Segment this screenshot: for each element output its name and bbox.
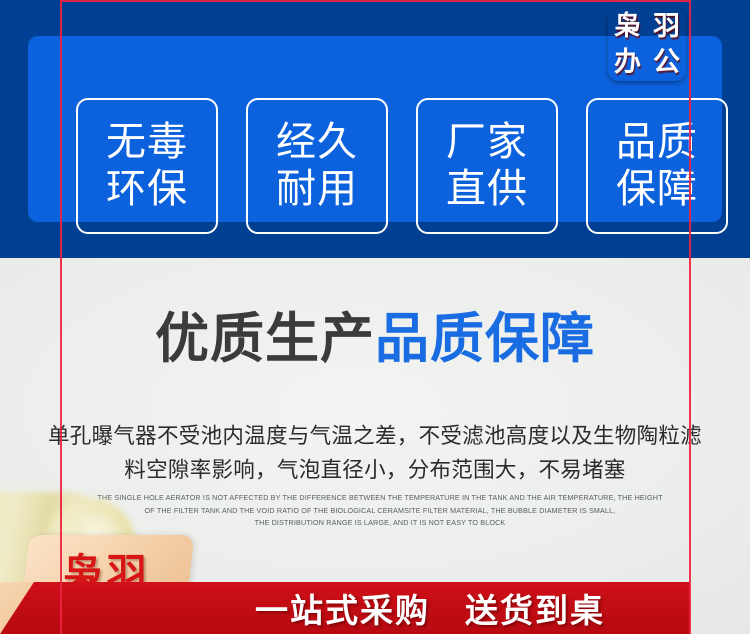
description-chinese: 单孔曝气器不受池内温度与气温之差，不受滤池高度以及生物陶粒滤 料空隙率影响，气泡… [5, 420, 745, 488]
crop-guide-right [689, 0, 691, 634]
feature-card-line2: 保障 [616, 167, 698, 212]
seal-char-2: 羽 [653, 13, 680, 40]
headline-part-blue: 品质保障 [375, 309, 595, 369]
feature-card-list: 无毒 环保 经久 耐用 厂家 直供 品质 保障 [76, 98, 730, 234]
feature-card-line1: 厂家 [446, 120, 528, 165]
feature-card-factory-direct[interactable]: 厂家 直供 [416, 98, 558, 234]
footer-slogan-text: 一站式采购 送货到桌 [170, 582, 690, 634]
crop-guide-left [60, 0, 62, 634]
feature-card-line2: 环保 [106, 167, 188, 212]
brand-seal-badge: 枭 羽 办 公 [608, 8, 686, 81]
description-en-line3: THE DISTRIBUTION RANGE IS LARGE, AND IT … [85, 517, 675, 530]
feature-card-line2: 耐用 [276, 167, 358, 212]
feature-card-line2: 直供 [446, 167, 528, 212]
feature-card-line1: 经久 [276, 120, 358, 165]
section-headline: 优质生产品质保障 [0, 312, 750, 366]
feature-card-line1: 无毒 [106, 120, 188, 165]
poster-page: 无毒 环保 经久 耐用 厂家 直供 品质 保障 枭 羽 [0, 0, 750, 634]
feature-card-nontoxic[interactable]: 无毒 环保 [76, 98, 218, 234]
feature-banner: 无毒 环保 经久 耐用 厂家 直供 品质 保障 枭 羽 [0, 0, 750, 258]
seal-char-4: 公 [653, 49, 680, 76]
seal-char-3: 办 [614, 49, 641, 76]
description-english: THE SINGLE HOLE AERATOR IS NOT AFFECTED … [85, 492, 675, 530]
feature-card-quality-guarantee[interactable]: 品质 保障 [586, 98, 728, 234]
description-en-line1: THE SINGLE HOLE AERATOR IS NOT AFFECTED … [85, 492, 675, 505]
description-cn-line2: 料空隙率影响，气泡直径小，分布范围大，不易堵塞 [5, 454, 745, 488]
crop-guide-top [60, 0, 691, 2]
seal-char-1: 枭 [614, 13, 641, 40]
feature-card-durable[interactable]: 经久 耐用 [246, 98, 388, 234]
feature-card-line1: 品质 [616, 120, 698, 165]
headline-part-dark: 优质生产 [155, 309, 375, 369]
description-en-line2: OF THE FILTER TANK AND THE VOID RATIO OF… [85, 505, 675, 518]
description-cn-line1: 单孔曝气器不受池内温度与气温之差，不受滤池高度以及生物陶粒滤 [5, 420, 745, 454]
